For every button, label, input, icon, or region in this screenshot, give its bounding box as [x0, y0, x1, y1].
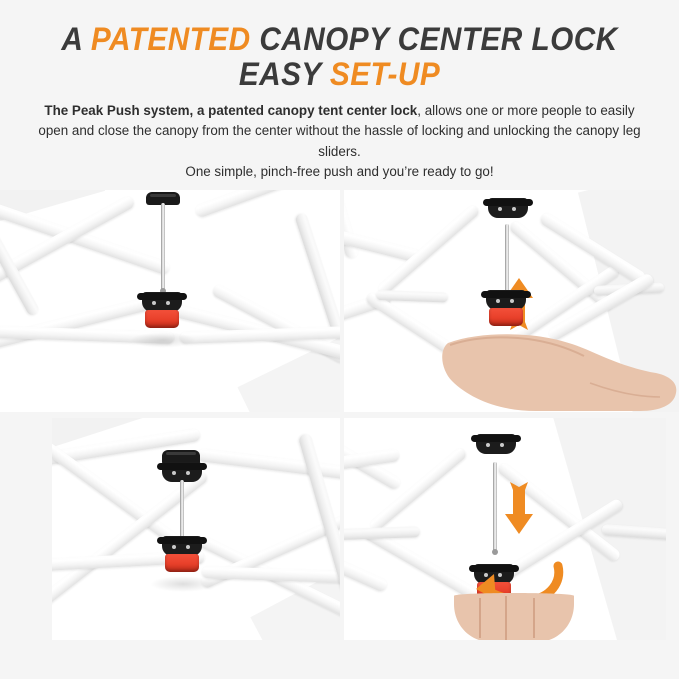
hub-shadow-3 — [150, 576, 216, 592]
arrow-down-icon — [504, 482, 534, 534]
open-palm-hand — [440, 321, 678, 412]
hub-spider-black-3 — [162, 536, 202, 556]
hub-bolt-right-top-4 — [500, 443, 504, 447]
hub-red-cap — [145, 310, 179, 328]
center-lock-hub — [140, 292, 184, 322]
push-rod — [161, 203, 165, 291]
push-rod-3 — [180, 480, 184, 542]
body-copy-bold-lead: The Peak Push system, a patented canopy … — [44, 103, 417, 118]
hub-spider-black-top — [488, 198, 528, 218]
hub-spider-black-2 — [486, 290, 526, 310]
hub-red-cap-3 — [165, 554, 199, 572]
body-copy-block: The Peak Push system, a patented canopy … — [34, 101, 645, 183]
panel-1-canopy-frame-closed — [0, 190, 340, 412]
hub-spider-black — [142, 292, 182, 312]
body-copy-final-line: One simple, pinch-free push and you’re r… — [185, 164, 493, 179]
hub-shadow — [130, 332, 196, 348]
hub-bolt-right — [166, 301, 170, 305]
panel-grid — [0, 190, 679, 660]
headline-word-patented: PATENTED — [91, 21, 251, 57]
product-feature-infographic: A PATENTED CANOPY CENTER LOCK EASY SET-U… — [0, 0, 679, 679]
hub-bolt-left-u3 — [172, 471, 176, 475]
headline-line-2: EASY SET-UP — [24, 57, 655, 92]
hub-spider-black-top-4 — [476, 434, 516, 454]
push-rod-4 — [493, 462, 497, 552]
panel-4-hands-pull-down — [344, 418, 666, 640]
hub-bolt-left-top-4 — [486, 443, 490, 447]
hub-bolt-left — [152, 301, 156, 305]
hub-bolt-right-top — [512, 207, 516, 211]
panel-2-hand-push-up — [344, 190, 679, 412]
headline-line-1: A PATENTED CANOPY CENTER LOCK — [24, 22, 655, 57]
headline-word-setup: SET-UP — [330, 56, 440, 92]
hub-bolt-right-3 — [186, 545, 190, 549]
headline-word-easy: EASY — [239, 56, 330, 92]
panel-row-top — [0, 190, 679, 412]
hub-spider-upper-3 — [162, 462, 202, 482]
hub-bolt-left-3 — [172, 545, 176, 549]
hub-bolt-left-2 — [496, 299, 500, 303]
panel-row-bottom — [0, 418, 679, 640]
headline-word-a: A — [61, 21, 91, 57]
hub-bolt-right-2 — [510, 299, 514, 303]
top-center-hub-4 — [474, 434, 518, 464]
headline-block: A PATENTED CANOPY CENTER LOCK EASY SET-U… — [0, 0, 679, 91]
hub-bolt-right-u3 — [186, 471, 190, 475]
center-lock-hub-2 — [484, 290, 528, 320]
headline-word-canopy-center-lock: CANOPY CENTER LOCK — [251, 21, 618, 57]
center-lock-hub-3 — [160, 536, 204, 566]
two-hands-gripping — [448, 590, 580, 640]
panel-3-canopy-frame-locked — [52, 418, 340, 640]
hub-bolt-left-top — [498, 207, 502, 211]
